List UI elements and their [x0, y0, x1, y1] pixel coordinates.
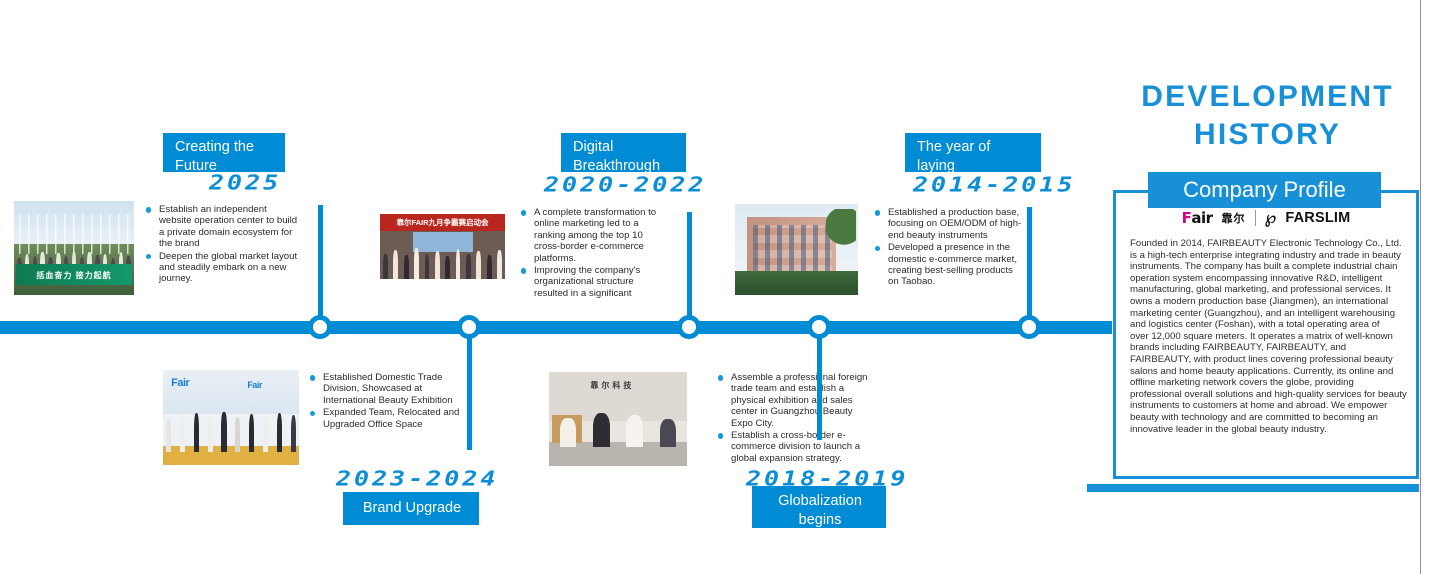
brand-logo-row: Fair 靠尔 ℘ FARSLIM	[1113, 206, 1419, 230]
entry-bullets-digital-breakthrough: A complete transformation to online mark…	[521, 207, 669, 300]
entry-photo-laying-the-foundation	[735, 204, 858, 295]
photo-crowd	[163, 408, 299, 452]
entry-year-creating-the-future: 2025	[209, 171, 281, 195]
bullet-item: Establish an independent website operati…	[146, 204, 298, 250]
timeline-stem-2023-2024	[467, 330, 472, 450]
timeline-node-2014-2015[interactable]	[1017, 315, 1041, 339]
photo-crowd	[380, 243, 505, 279]
entry-year-brand-upgrade: 2023-2024	[336, 467, 498, 491]
photo-trees	[735, 271, 858, 295]
fair-logo-icon: Fair	[1182, 209, 1213, 227]
page-title-line-1: DEVELOPMENT	[1110, 78, 1425, 116]
infographic-canvas: Creating the Future 2025 括血奋力 接力起航 Estab…	[0, 0, 1432, 574]
bullet-item: Developed a presence in the domestic e-c…	[875, 242, 1025, 288]
entry-photo-caption-digital-breakthrough: 靠尔FAIR九月争霸赛启动会	[380, 217, 505, 228]
timeline-stem-2014-2015	[1027, 207, 1032, 325]
bullet-item: Improving the company's organizational s…	[521, 265, 669, 299]
entry-bullets-creating-the-future: Establish an independent website operati…	[146, 204, 298, 286]
entry-photo-creating-the-future: 括血奋力 接力起航	[14, 201, 134, 295]
company-profile-text: Founded in 2014, FAIRBEAUTY Electronic T…	[1130, 238, 1408, 435]
entry-photo-caption-brand-upgrade: Fair	[171, 377, 189, 389]
bullet-item: Established a production base, focusing …	[875, 207, 1025, 241]
photo-crowd	[549, 410, 687, 448]
page-edge-divider	[1420, 0, 1421, 574]
entry-tag-creating-the-future: Creating the Future	[163, 133, 285, 172]
fair-logo-cn-icon: 靠尔	[1222, 210, 1246, 226]
timeline-node-2025[interactable]	[308, 315, 332, 339]
timeline-stem-2025	[318, 205, 323, 325]
entry-bullets-globalization-begins: Assemble a professional foreign trade te…	[718, 372, 872, 465]
photo-building-windows	[753, 225, 833, 273]
entry-tag-globalization-begins: Globalization begins	[752, 486, 886, 528]
entry-bullets-brand-upgrade: Established Domestic Trade Division, Sho…	[310, 372, 466, 431]
entry-bullets-laying-the-foundation: Established a production base, focusing …	[875, 207, 1025, 289]
timeline-stem-2018-2019	[817, 330, 822, 440]
entry-tag-brand-upgrade: Brand Upgrade	[343, 492, 479, 525]
entry-photo-digital-breakthrough: 靠尔FAIR九月争霸赛启动会	[380, 214, 505, 279]
entry-tag-digital-breakthrough: Digital Breakthrough	[561, 133, 686, 172]
entry-photo-brand-upgrade: Fair Fair	[163, 370, 299, 465]
farslim-mark-icon: ℘	[1265, 208, 1277, 228]
logo-divider	[1255, 210, 1256, 226]
page-title-line-2: HISTORY	[1110, 116, 1425, 154]
timeline-spine	[0, 321, 1112, 334]
footer-accent-bar	[1087, 484, 1419, 492]
entry-year-laying-the-foundation: 2014-2015	[913, 173, 1075, 197]
timeline-node-2018-2019[interactable]	[807, 315, 831, 339]
page-title: DEVELOPMENT HISTORY	[1110, 78, 1425, 154]
bullet-item: Establish a cross-border e-commerce divi…	[718, 430, 872, 464]
bullet-item: Expanded Team, Relocated and Upgraded Of…	[310, 407, 466, 430]
entry-photo-globalization-begins: 靠尔科技	[549, 372, 687, 466]
bullet-item: Deepen the global market layout and stea…	[146, 251, 298, 285]
timeline-node-2020-2022[interactable]	[677, 315, 701, 339]
entry-photo-caption-creating-the-future: 括血奋力 接力起航	[14, 270, 134, 281]
farslim-logo-text: FARSLIM	[1285, 210, 1350, 226]
bullet-item: Assemble a professional foreign trade te…	[718, 372, 872, 429]
bullet-item: A complete transformation to online mark…	[521, 207, 669, 264]
timeline-node-2023-2024[interactable]	[457, 315, 481, 339]
company-profile-tab: Company Profile	[1148, 172, 1381, 208]
entry-photo-caption-globalization-begins: 靠尔科技	[590, 380, 634, 391]
bullet-item: Established Domestic Trade Division, Sho…	[310, 372, 466, 406]
entry-year-digital-breakthrough: 2020-2022	[544, 173, 706, 197]
photo-booth-logo-2: Fair	[247, 380, 262, 390]
photo-tree-right	[826, 209, 856, 251]
timeline-stem-2020-2022	[687, 212, 692, 325]
entry-tag-laying-the-foundation: The year of laying the foundation	[905, 133, 1041, 172]
